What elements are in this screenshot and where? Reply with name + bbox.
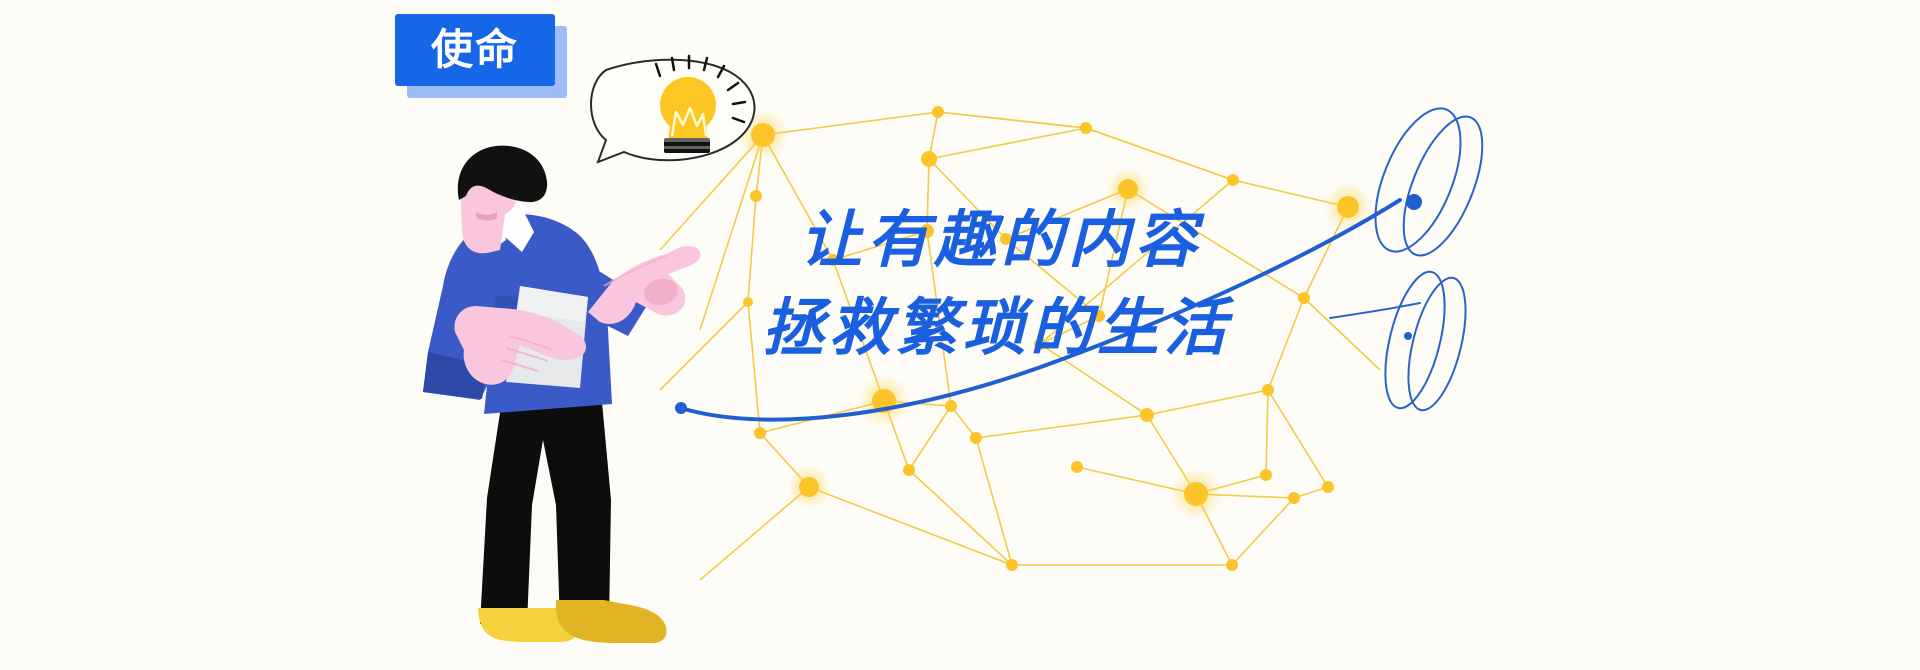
badge-label: 使命 [431,29,519,71]
headline-line-2: 拯救繁琐的生活 [762,284,1420,372]
badge-face: 使命 [395,14,555,86]
mission-badge: 使命 [395,14,567,98]
mission-banner: 使命 让有趣的内容 拯救繁琐的生活 [0,0,1920,670]
headline-block: 让有趣的内容 拯救繁琐的生活 [800,196,1420,372]
headline-line-1: 让有趣的内容 [800,196,1420,284]
